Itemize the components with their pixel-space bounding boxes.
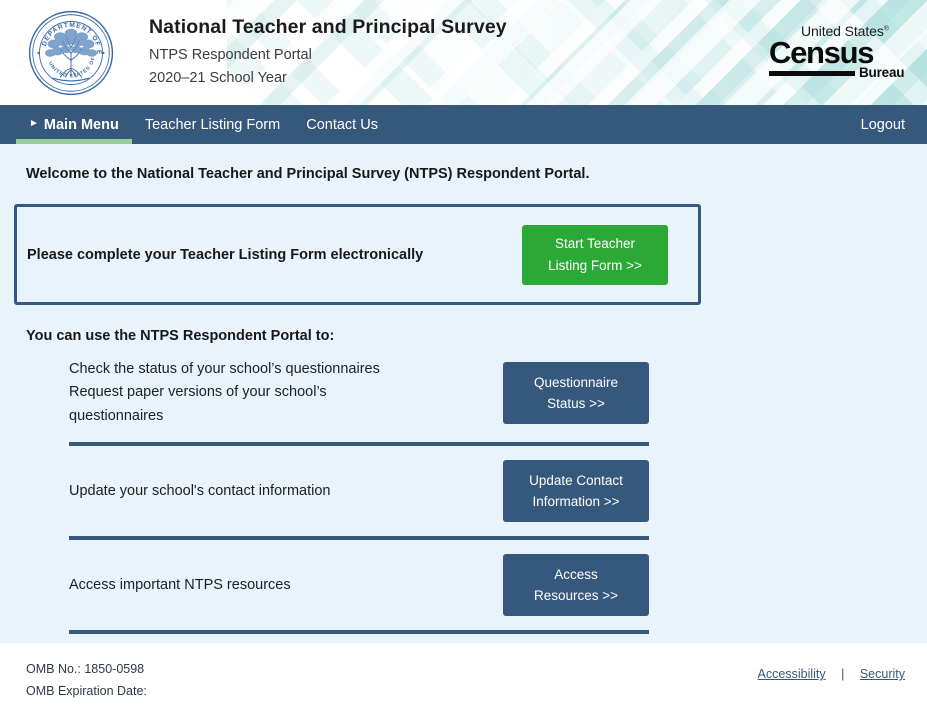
registered-trademark-icon: ® xyxy=(884,25,889,32)
start-teacher-listing-form-button-line2: Listing Form >> xyxy=(522,255,668,277)
row-divider-3 xyxy=(69,630,649,634)
nav-item-teacher-listing-form[interactable]: Teacher Listing Form xyxy=(132,105,293,144)
update-contact-information-button-line2: Information >> xyxy=(503,491,649,513)
welcome-message: Welcome to the National Teacher and Prin… xyxy=(0,144,927,182)
logout-link[interactable]: Logout xyxy=(861,117,905,133)
start-teacher-listing-form-button[interactable]: Start Teacher Listing Form >> xyxy=(522,225,668,285)
update-contact-information-button[interactable]: Update Contact Information >> xyxy=(503,460,649,522)
header-title-block: National Teacher and Principal Survey NT… xyxy=(149,15,507,90)
access-resources-description: Access important NTPS resources xyxy=(69,574,503,597)
primary-navigation-bar: ► Main Menu Teacher Listing Form Contact… xyxy=(0,105,927,144)
census-logo-bar xyxy=(769,71,855,76)
header-subtitle: NTPS Respondent Portal xyxy=(149,44,507,67)
update-contact-description: Update your school's contact information xyxy=(69,480,503,503)
census-logo-wordmark: Census xyxy=(769,37,909,69)
teacher-listing-form-callout: Please complete your Teacher Listing For… xyxy=(14,204,701,305)
list-item-update-contact-information: Update your school's contact information… xyxy=(69,446,649,536)
footer-links: Accessibility | Security xyxy=(758,659,905,681)
start-teacher-listing-form-button-line1: Start Teacher xyxy=(522,233,668,255)
nav-item-contact-us[interactable]: Contact Us xyxy=(293,105,391,144)
main-content-area: Welcome to the National Teacher and Prin… xyxy=(0,144,927,643)
questionnaire-status-line-3: questionnaires xyxy=(69,405,489,428)
footer-omb-expiration-date: OMB Expiration Date: xyxy=(26,681,147,703)
access-resources-button-line2: Resources >> xyxy=(503,585,649,607)
footer-link-separator: | xyxy=(829,667,856,681)
department-of-education-seal-icon: DEPARTMENT OF EDUCATION UNITED STATES OF… xyxy=(26,8,116,98)
nav-right-group: Logout xyxy=(861,105,927,144)
nav-items-group: ► Main Menu Teacher Listing Form Contact… xyxy=(0,105,391,144)
portal-uses-heading: You can use the NTPS Respondent Portal t… xyxy=(0,305,927,344)
questionnaire-status-button-line1: Questionnaire xyxy=(503,372,649,394)
questionnaire-status-line-2: Request paper versions of your school’s xyxy=(69,381,489,404)
page-title: National Teacher and Principal Survey xyxy=(149,15,507,39)
questionnaire-status-line-1: Check the status of your school’s questi… xyxy=(69,358,489,381)
nav-item-main-menu[interactable]: ► Main Menu xyxy=(16,105,132,144)
callout-instruction-text: Please complete your Teacher Listing For… xyxy=(25,247,522,263)
access-resources-button[interactable]: Access Resources >> xyxy=(503,554,649,616)
footer-omb-number: OMB No.: 1850-0598 xyxy=(26,659,147,681)
active-nav-arrow-icon: ► xyxy=(29,119,39,129)
portal-uses-list: Check the status of your school’s questi… xyxy=(0,344,927,634)
security-link[interactable]: Security xyxy=(860,667,905,681)
footer-omb-block: OMB No.: 1850-0598 OMB Expiration Date: xyxy=(26,659,147,702)
us-census-bureau-logo: United States® Census Bureau xyxy=(769,24,909,79)
update-contact-line-1: Update your school's contact information xyxy=(69,480,489,503)
questionnaire-status-description: Check the status of your school’s questi… xyxy=(69,358,503,428)
header-school-year: 2020–21 School Year xyxy=(149,67,507,90)
list-item-access-resources: Access important NTPS resources Access R… xyxy=(69,540,649,630)
ntps-respondent-portal-page: DEPARTMENT OF EDUCATION UNITED STATES OF… xyxy=(0,0,927,706)
nav-item-main-menu-label: Main Menu xyxy=(44,117,119,133)
site-footer: OMB No.: 1850-0598 OMB Expiration Date: … xyxy=(0,643,927,706)
site-header: DEPARTMENT OF EDUCATION UNITED STATES OF… xyxy=(0,0,927,105)
access-resources-button-line1: Access xyxy=(503,564,649,586)
nav-item-teacher-listing-form-label: Teacher Listing Form xyxy=(145,117,280,133)
accessibility-link[interactable]: Accessibility xyxy=(758,667,826,681)
questionnaire-status-button-line2: Status >> xyxy=(503,393,649,415)
nav-item-contact-us-label: Contact Us xyxy=(306,117,378,133)
update-contact-information-button-line1: Update Contact xyxy=(503,470,649,492)
census-logo-bureau-text: Bureau xyxy=(859,66,904,80)
access-resources-line-1: Access important NTPS resources xyxy=(69,574,489,597)
list-item-questionnaire-status: Check the status of your school’s questi… xyxy=(69,344,649,442)
questionnaire-status-button[interactable]: Questionnaire Status >> xyxy=(503,362,649,424)
